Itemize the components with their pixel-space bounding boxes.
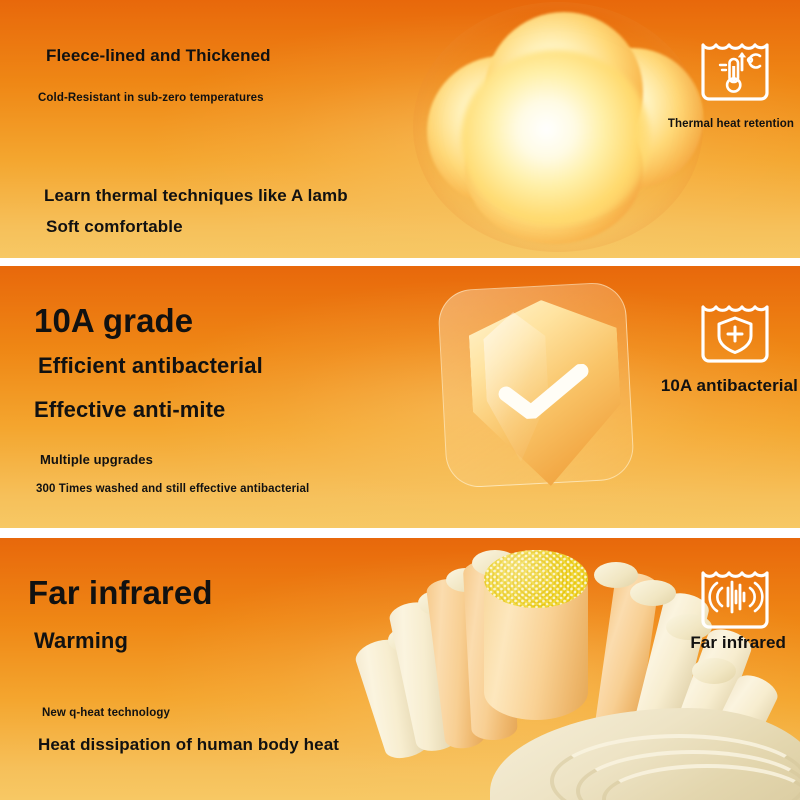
panel-feature-sub: Multiple upgrades: [40, 452, 153, 467]
panel-headline: Fleece-lined and Thickened: [46, 46, 271, 66]
thermal-panel: Fleece-lined and Thickened Cold-Resistan…: [0, 0, 800, 258]
hex-cross-section: [484, 550, 588, 608]
badge-label: Far infrared: [690, 633, 786, 653]
badge-label: Thermal heat retention: [668, 118, 794, 130]
panel-feature-line: Effective anti-mite: [34, 397, 225, 423]
panel-headline: Far infrared: [28, 574, 213, 612]
cloud-glow-core: [461, 50, 651, 226]
panel-subhead: Warming: [34, 628, 128, 654]
panel-feature-line: Learn thermal techniques like A lamb: [44, 186, 348, 206]
shield-plus-icon: [698, 294, 772, 368]
infographic-board: Fleece-lined and Thickened Cold-Resistan…: [0, 0, 800, 800]
fleece-cloud-graphic: [413, 2, 703, 252]
thermometer-heat-icon: [698, 32, 772, 106]
panel-feature-sub: New q-heat technology: [42, 707, 170, 719]
antibacterial-panel: 10A grade Efficient antibacterial Effect…: [0, 266, 800, 528]
panel-headline: 10A grade: [34, 302, 193, 340]
panel-subhead: Cold-Resistant in sub-zero temperatures: [38, 92, 264, 104]
badge-label: 10A antibacterial: [661, 376, 798, 396]
panel-feature-sub: Soft comfortable: [46, 217, 183, 237]
far-infrared-panel: Far infrared Warming New q-heat technolo…: [0, 538, 800, 800]
panel-detail: 300 Times washed and still effective ant…: [36, 483, 309, 495]
checkmark-icon: [497, 364, 592, 421]
panel-detail: Heat dissipation of human body heat: [38, 735, 339, 755]
infrared-wave-icon: [698, 560, 772, 634]
panel-subhead: Efficient antibacterial: [38, 353, 263, 379]
hex-dot-pattern: [484, 550, 588, 608]
